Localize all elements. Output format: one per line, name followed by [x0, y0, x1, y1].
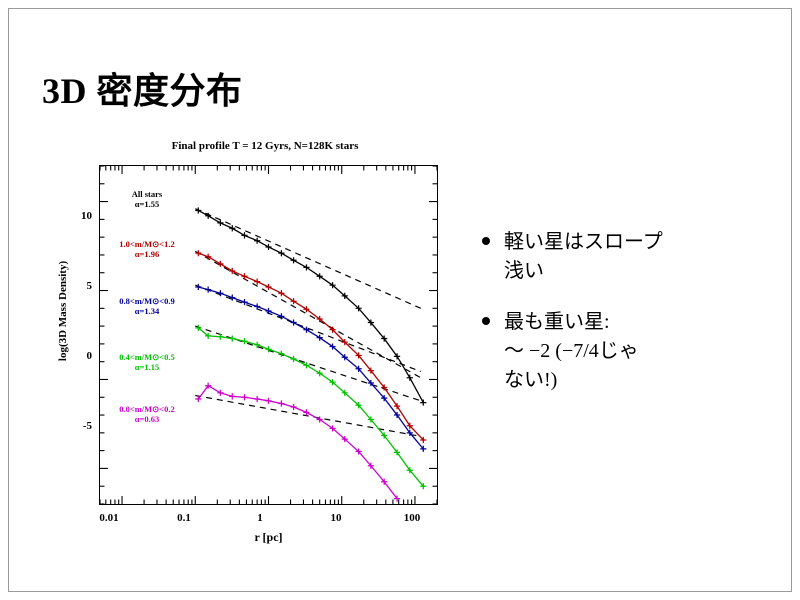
legend-m10-12-alpha: α=1.96 — [99, 250, 195, 260]
bullet-list: 軽い星はスロープ 浅い 最も重い星: 〜 −2 (−7/4じゃ ない!) — [482, 228, 782, 417]
axis-ticks — [100, 166, 437, 504]
data-series — [195, 207, 426, 501]
y-tick-label-5: 5 — [54, 280, 92, 292]
legend-m08-09: 0.8<m/M⊙<0.9 α=1.34 — [99, 297, 195, 317]
legend-m08-09-alpha: α=1.34 — [99, 307, 195, 317]
x-axis-label: r [pc] — [99, 530, 438, 545]
density-profile-figure: Final profile T = 12 Gyrs, N=128K stars … — [40, 135, 460, 550]
x-tick-label-0.01: 0.01 — [89, 512, 129, 524]
x-tick-label-1: 1 — [240, 512, 280, 524]
legend-m00-02-alpha: α=0.63 — [99, 415, 195, 425]
x-tick-label-0.1: 0.1 — [164, 512, 204, 524]
slide: 3D 密度分布 Final profile T = 12 Gyrs, N=128… — [0, 0, 800, 600]
bullet-2-line-3: ない!) — [504, 366, 782, 395]
legend-m04-05-alpha: α=1.15 — [99, 363, 195, 373]
bullet-dot-icon — [482, 317, 490, 325]
y-tick-label-0: 0 — [54, 350, 92, 362]
bullet-dot-icon — [482, 237, 490, 245]
fit-line — [195, 209, 420, 309]
y-tick-label-minus5: -5 — [48, 420, 92, 432]
list-item: 最も重い星: 〜 −2 (−7/4じゃ ない!) — [482, 308, 782, 395]
legend-m00-02: 0.0<m/M⊙<0.2 α=0.63 — [99, 405, 195, 425]
y-axis-label: log(3D Mass Density) — [57, 211, 69, 411]
legend-all-stars: All stars α=1.55 — [104, 190, 190, 210]
y-tick-label-10: 10 — [54, 210, 92, 222]
series-all-stars — [195, 207, 426, 405]
list-item: 軽い星はスロープ 浅い — [482, 228, 782, 286]
legend-m10-12: 1.0<m/M⊙<1.2 α=1.96 — [99, 240, 195, 260]
bullet-1-line-1: 軽い星はスロープ — [504, 231, 663, 253]
plot-area: All stars α=1.55 1.0<m/M⊙<1.2 α=1.96 0.8… — [99, 165, 438, 505]
x-tick-label-100: 100 — [392, 512, 432, 524]
bullet-2-line-1: 最も重い星: — [504, 311, 610, 333]
legend-all-stars-alpha: α=1.55 — [104, 200, 190, 210]
plot-svg — [100, 166, 437, 504]
fit-line — [195, 326, 420, 401]
bullet-2-line-2: 〜 −2 (−7/4じゃ — [504, 337, 782, 366]
page-title: 3D 密度分布 — [42, 62, 243, 114]
bullet-1-line-2: 浅い — [504, 257, 782, 286]
chart-title: Final profile T = 12 Gyrs, N=128K stars — [100, 140, 430, 152]
legend-m04-05: 0.4<m/M⊙<0.5 α=1.15 — [99, 353, 195, 373]
x-tick-label-10: 10 — [316, 512, 356, 524]
fit-line — [195, 251, 420, 377]
series-0-0-m-m-0-2 — [195, 383, 400, 502]
